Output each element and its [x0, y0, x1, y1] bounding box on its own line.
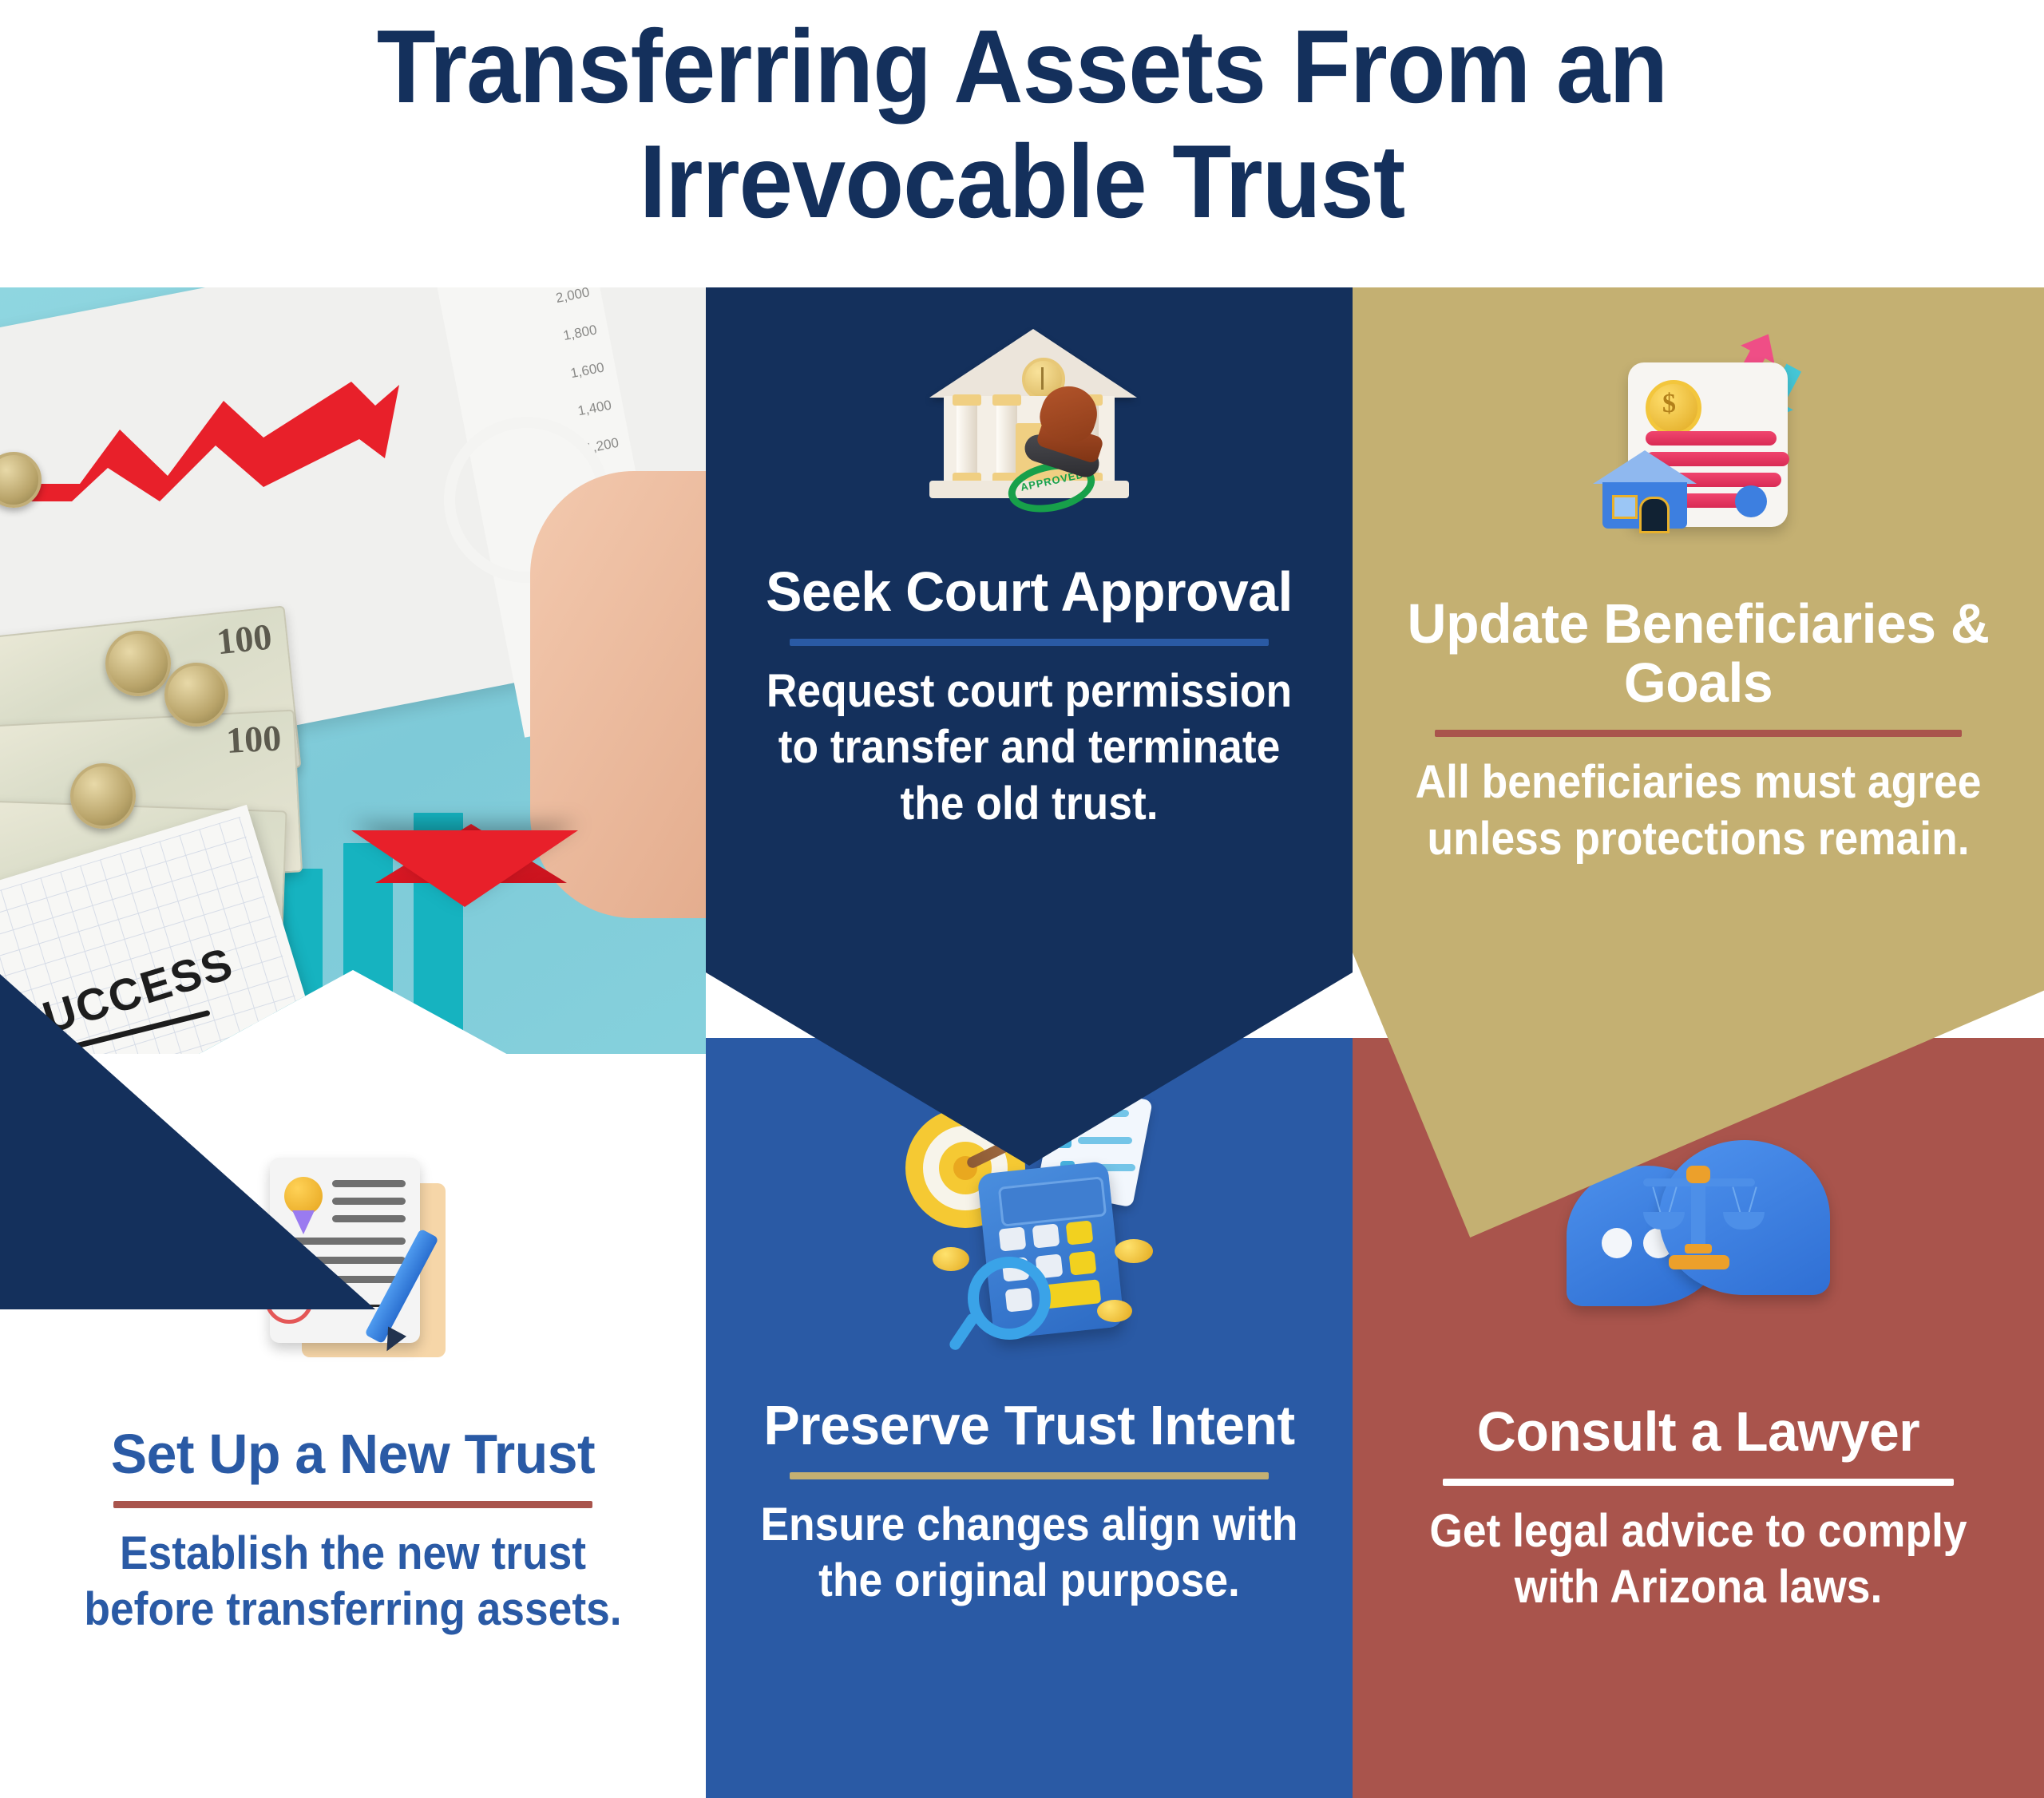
- card-panel-seek-court-approval: APPROVED Seek Court Approval Request cou…: [706, 287, 1353, 1166]
- card-title-seek-court-approval: Seek Court Approval: [715, 562, 1343, 621]
- document-coin-house-arrows-icon: $: [1353, 331, 2044, 546]
- title-line-2: Irrevocable Trust: [72, 129, 1973, 233]
- card-title-update-beneficiaries-goals: Update Beneficiaries & Goals: [1363, 594, 2034, 712]
- card-title-consult-a-lawyer: Consult a Lawyer: [1363, 1402, 2034, 1461]
- card-content-consult-a-lawyer: Consult a Lawyer Get legal advice to com…: [1353, 1134, 2044, 1616]
- card-content-update-beneficiaries-goals: $ Update Beneficiari: [1353, 331, 2044, 867]
- card-divider-update-beneficiaries-goals: [1435, 730, 1962, 737]
- card-content-seek-court-approval: APPROVED Seek Court Approval Request cou…: [706, 329, 1353, 832]
- photo-paper-boat-hull: [351, 830, 578, 907]
- card-body-seek-court-approval: Request court permission to transfer and…: [731, 663, 1326, 832]
- card-divider-consult-a-lawyer: [1443, 1479, 1954, 1486]
- card-title-preserve-trust-intent: Preserve Trust Intent: [715, 1396, 1343, 1455]
- infographic-poster: Transferring Assets From an Irrevocable …: [0, 0, 2044, 1798]
- cards-board: Set Up a New Trust Establish the new tru…: [0, 287, 2044, 1798]
- card-title-set-up-a-new-trust: Set Up a New Trust: [10, 1424, 695, 1483]
- card-body-update-beneficiaries-goals: All beneficiaries must agree unless prot…: [1380, 754, 2017, 866]
- title-line-1: Transferring Assets From an: [72, 14, 1973, 118]
- card-body-consult-a-lawyer: Get legal advice to comply with Arizona …: [1380, 1503, 2017, 1615]
- photo-growth-arrow: [24, 382, 439, 501]
- card-divider-seek-court-approval: [790, 639, 1269, 646]
- page-title: Transferring Assets From an Irrevocable …: [0, 14, 2044, 233]
- card-body-set-up-a-new-trust: Establish the new trust before transferr…: [28, 1526, 677, 1638]
- hero-photo: 2,000 1,800 1,600 1,400 1,200 1,000 800 …: [0, 287, 706, 1162]
- card-divider-preserve-trust-intent: [790, 1472, 1269, 1479]
- courthouse-gavel-approved-icon: APPROVED: [706, 329, 1353, 513]
- card-divider-set-up-a-new-trust: [113, 1501, 592, 1508]
- card-body-preserve-trust-intent: Ensure changes align with the original p…: [731, 1497, 1326, 1609]
- card-content-preserve-trust-intent: Preserve Trust Intent Ensure changes ali…: [706, 1091, 1353, 1610]
